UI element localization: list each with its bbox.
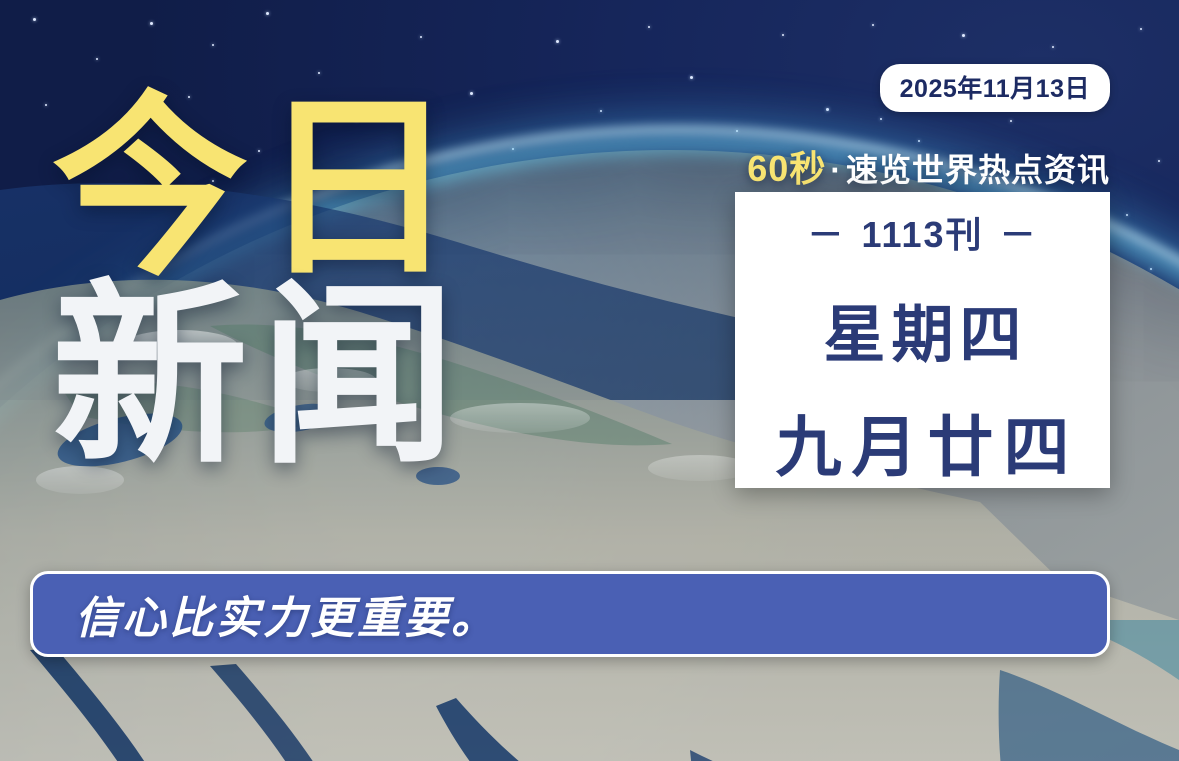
tagline-highlight: 60秒	[747, 148, 826, 189]
date-info-card: － 1113刊 － 星期四 九月廿四	[735, 192, 1110, 488]
poster-title: 今日 新闻	[52, 96, 472, 470]
tagline-rest: 速览世界热点资讯	[846, 152, 1110, 188]
issue-number: 1113刊	[861, 206, 983, 258]
issue-line: － 1113刊 －	[807, 206, 1037, 258]
lunar-date-label: 九月廿四	[766, 394, 1080, 490]
tagline-separator: ·	[830, 152, 842, 188]
issue-dash-right: －	[1000, 206, 1038, 258]
quote-text: 信心比实力更重要。	[33, 582, 498, 646]
title-line-today: 今日	[52, 96, 472, 282]
tagline: 60秒·速览世界热点资讯	[747, 140, 1110, 192]
quote-banner: 信心比实力更重要。	[30, 571, 1110, 657]
news-poster: 今日 新闻 2025年11月13日 60秒·速览世界热点资讯 － 1113刊 －…	[0, 0, 1179, 761]
issue-dash-left: －	[807, 206, 845, 258]
weekday-label: 星期四	[817, 284, 1027, 374]
title-line-news: 新闻	[52, 284, 472, 470]
date-badge: 2025年11月13日	[880, 64, 1110, 112]
